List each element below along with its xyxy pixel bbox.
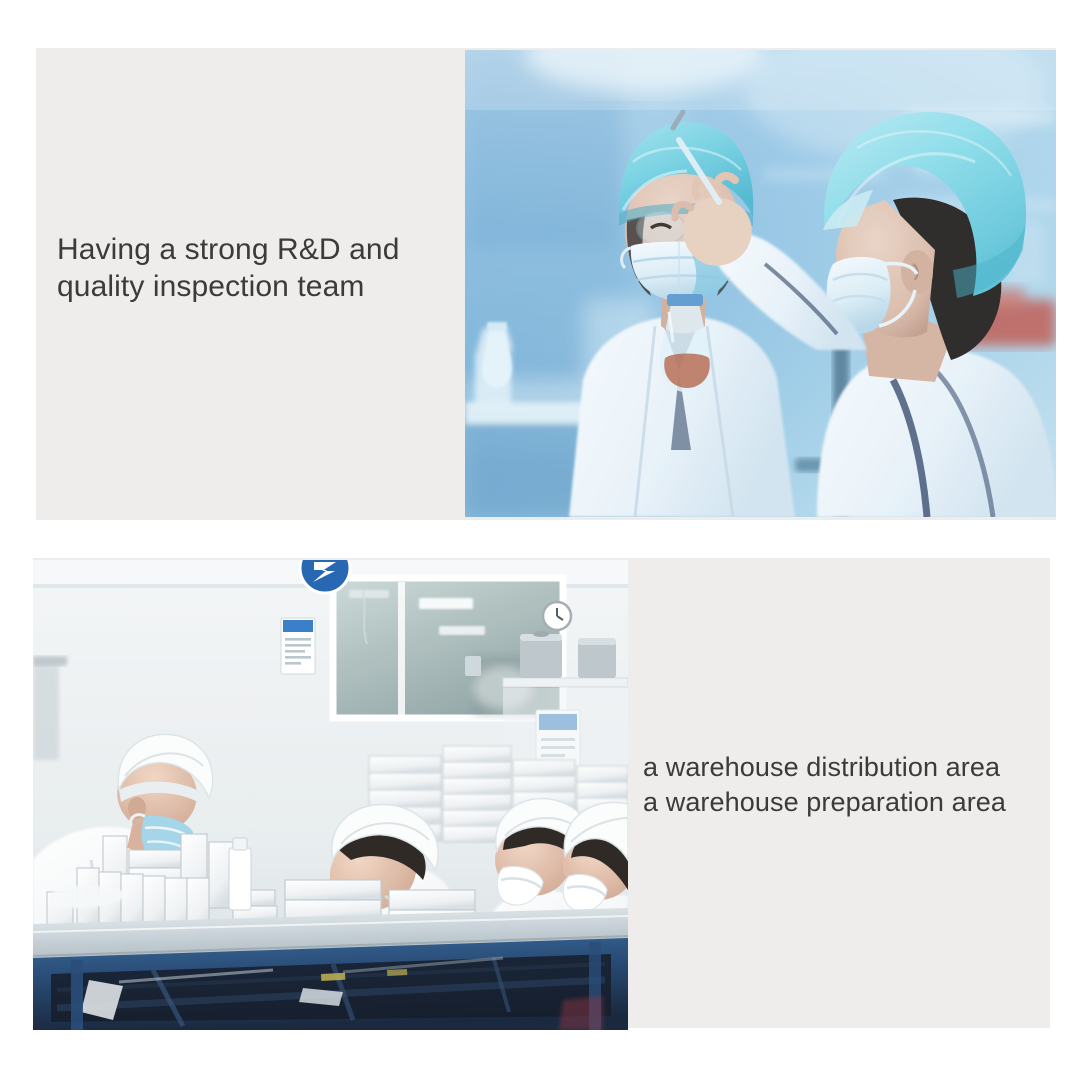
warehouse-photo-illustration xyxy=(33,560,628,1030)
top-caption-line-1: Having a strong R&D and xyxy=(57,231,467,268)
top-caption: Having a strong R&D and quality inspecti… xyxy=(57,231,467,305)
warehouse-packing-photo xyxy=(33,560,628,1030)
lab-quality-inspection-photo xyxy=(465,50,1056,517)
top-caption-line-2: quality inspection team xyxy=(57,268,467,305)
bottom-caption-line-1: a warehouse distribution area xyxy=(643,750,1043,785)
bottom-caption-line-2: a warehouse preparation area xyxy=(643,785,1043,820)
lab-photo-illustration xyxy=(465,50,1056,517)
top-content-block: Having a strong R&D and quality inspecti… xyxy=(36,48,1056,520)
bottom-caption: a warehouse distribution area a warehous… xyxy=(643,750,1043,820)
bottom-content-block: a warehouse distribution area a warehous… xyxy=(33,558,1050,1028)
